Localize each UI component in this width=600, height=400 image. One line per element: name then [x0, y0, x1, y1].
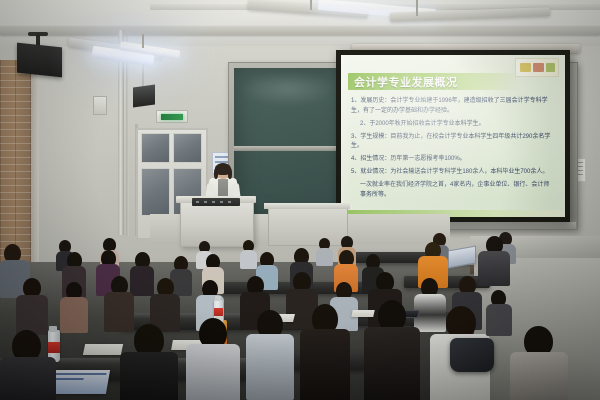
student [510, 326, 568, 400]
panel-key [204, 201, 207, 203]
panel-key [228, 201, 231, 203]
panel-key [212, 201, 215, 203]
student-body [510, 352, 568, 400]
lectern-control-panel [192, 198, 240, 206]
student-body [364, 327, 420, 400]
backpack [450, 338, 494, 372]
student-body [120, 352, 178, 400]
student [316, 238, 333, 265]
student [60, 282, 88, 332]
logo-block-b [533, 63, 544, 72]
ceiling-speaker-icon [17, 43, 62, 78]
slide-bullet: 5、就业情况：为社会输送会计学专科学生180余人，本科毕业生700余人。 [351, 168, 555, 178]
slide-bullet: 4、招生情况：历年第一志愿报考率100%。 [351, 155, 555, 165]
student [364, 300, 420, 400]
logo-block-a [520, 63, 531, 72]
ceiling-beam [0, 26, 600, 35]
student-body [300, 329, 350, 400]
light-hanger-2 [416, 0, 418, 16]
student-body [240, 250, 257, 269]
slide-body: 1、发展历史：会计学专业始建于1996年，建造级招收了三届会计学专科学生，有了一… [351, 97, 555, 204]
brick-pillar [0, 60, 33, 270]
window-pane-1 [141, 133, 170, 163]
student [240, 240, 257, 268]
slide-logo-icon [515, 58, 559, 77]
student [150, 278, 180, 330]
slide-title-banner: 会计学专业发展概况 [348, 73, 520, 90]
side-desk [268, 206, 348, 246]
student-body [486, 304, 512, 336]
chalkboard-glare [240, 72, 336, 106]
slide-title-text: 会计学专业发展概况 [348, 74, 458, 90]
student-body [478, 251, 510, 286]
exit-sign-glyph [161, 114, 183, 120]
exit-sign [156, 110, 188, 123]
student-body [0, 357, 56, 400]
lecture-hall-photo: 会计学专业发展概况 1、发展历史：会计学专业始建于1996年，建造级招收了三届会… [0, 0, 600, 400]
student [0, 330, 56, 400]
bottle-label [214, 308, 223, 316]
student-body [16, 295, 48, 335]
student-body [186, 344, 240, 400]
presentation-slide: 会计学专业发展概况 1、发展历史：会计学专业始建于1996年，建造级招收了三届会… [341, 55, 565, 217]
slide-footnote: 一次就业率在我们经济学院之首，4家名内，企事业单位、银行、会计师事务所等。 [360, 181, 555, 200]
panel-key [196, 201, 199, 203]
window-pane-2 [173, 133, 202, 163]
slide-bullet: 2、于2000年秋开始招收会计学专业本科学生。 [360, 120, 555, 130]
light-hanger-1 [310, 0, 312, 10]
student [16, 278, 48, 334]
student [486, 290, 512, 334]
student [104, 276, 134, 330]
pillar-edge [31, 60, 39, 270]
handout-paper [83, 344, 123, 355]
ceiling-speaker-secondary-icon [133, 84, 155, 107]
panel-key [220, 201, 223, 203]
side-desk-top [264, 203, 350, 209]
student [300, 304, 350, 400]
logo-block-c [546, 63, 555, 72]
wall-pipe-secondary [126, 36, 129, 236]
lecturer-hair-right [228, 168, 232, 179]
projection-screen: 会计学专业发展概况 1、发展历史：会计学专业始建于1996年，建造级招收了三届会… [336, 50, 570, 222]
bottle-cap [215, 296, 221, 301]
lecturer-hair-left [214, 168, 218, 179]
wall-utility-box [93, 96, 107, 115]
light-hanger-3 [142, 34, 144, 48]
student-body [60, 297, 88, 333]
slide-bullet: 3、学生规模：目前我为止，在校会计学专业本科学生四年级共计290余名学生。 [351, 133, 555, 152]
student-body [246, 334, 294, 400]
student-body [316, 248, 333, 266]
student [186, 318, 240, 400]
slide-bullet: 1、发展历史：会计学专业始建于1996年，建造级招收了三届会计学专科学生，有了一… [351, 97, 555, 116]
student [246, 310, 294, 400]
student [478, 236, 510, 284]
window-pane-3 [141, 168, 170, 216]
student [120, 324, 178, 400]
